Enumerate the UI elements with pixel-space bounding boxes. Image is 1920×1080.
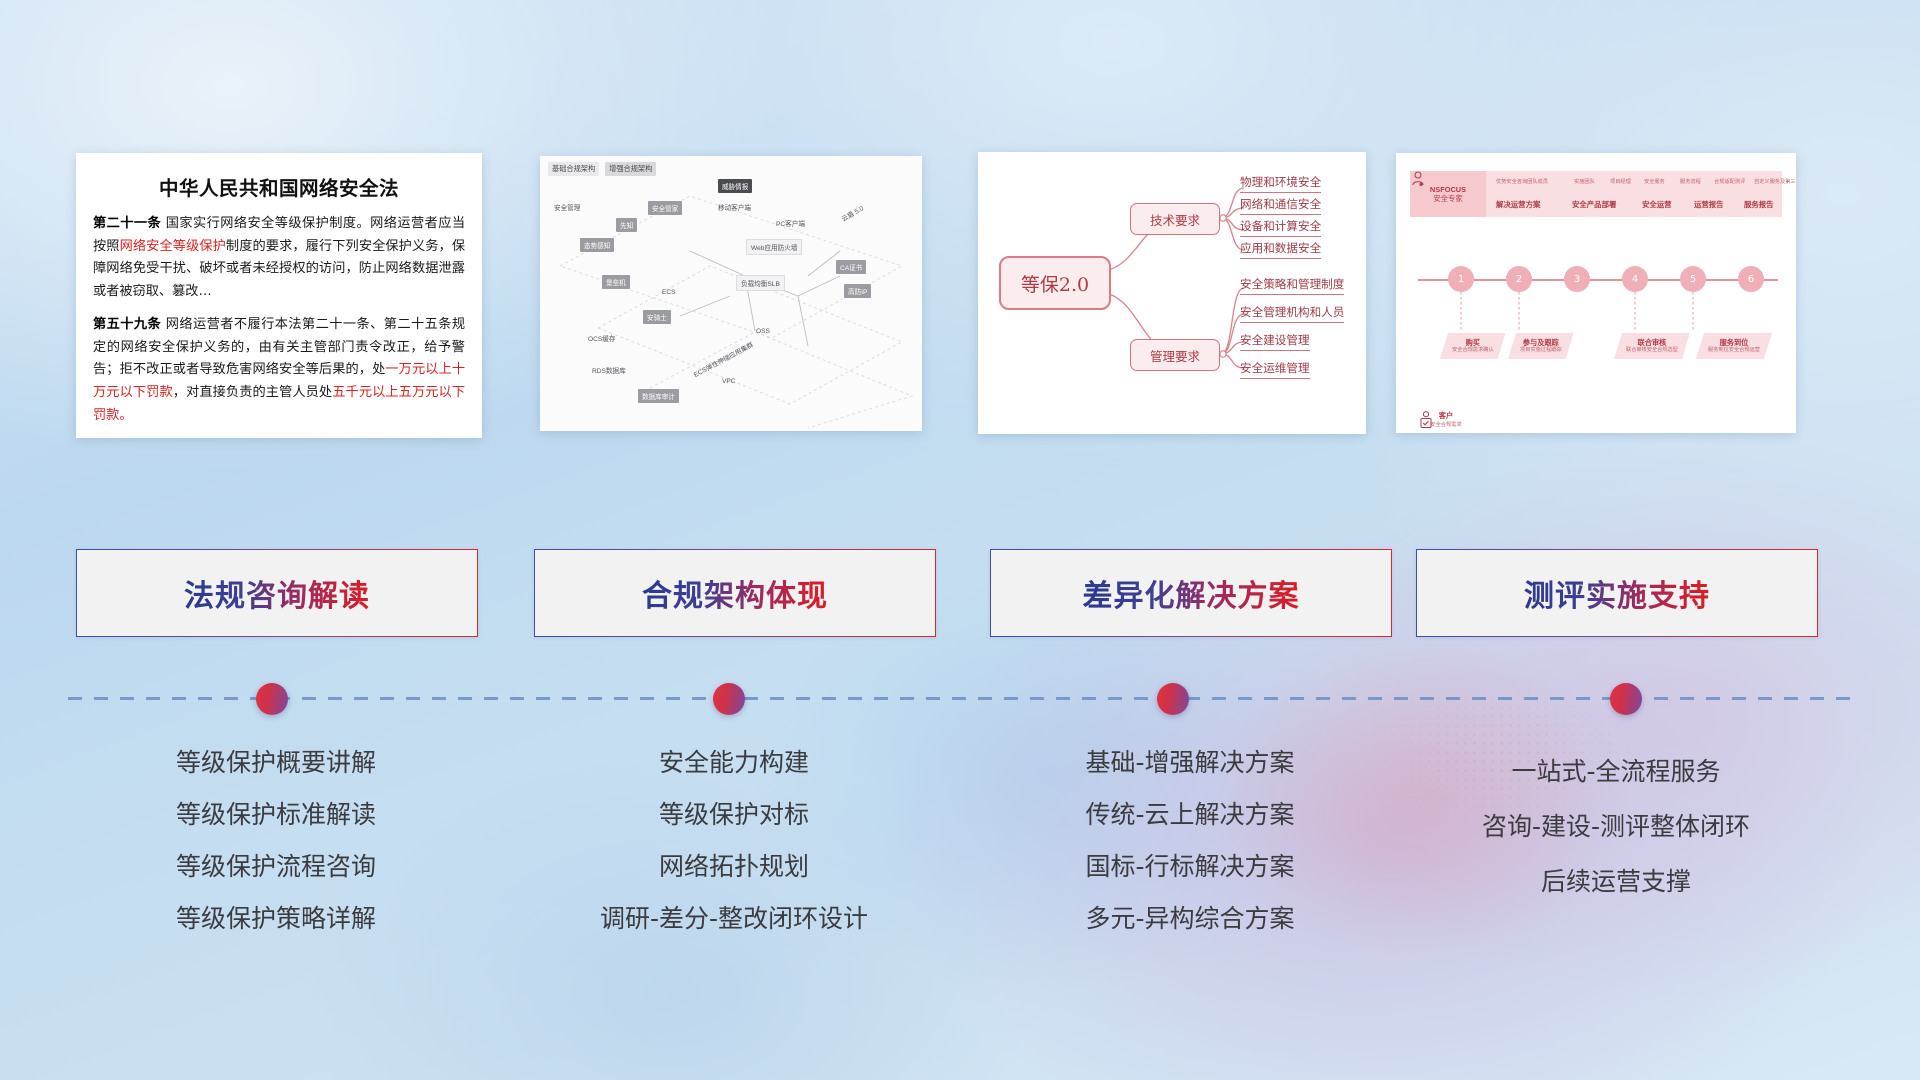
list-item: 国标-行标解决方案 — [990, 854, 1390, 879]
list-item: 后续运营支撑 — [1416, 869, 1816, 894]
roadmap-tag-2-title: 联合审核 — [1626, 338, 1678, 347]
list-item: 等级保护概要讲解 — [76, 750, 476, 775]
feature-list-solution: 基础-增强解决方案 传统-云上解决方案 国标-行标解决方案 多元-异构综合方案 — [990, 750, 1390, 958]
pill-label-0: 法规咨询解读 — [184, 571, 370, 615]
pill-label-1: 合规架构体现 — [642, 571, 828, 615]
pill-regulation-consulting[interactable]: 法规咨询解读 — [76, 549, 478, 637]
pill-differentiated-solution[interactable]: 差异化解决方案 — [990, 549, 1392, 637]
timeline-dot-4[interactable] — [1610, 683, 1642, 715]
mindmap-branch-management: 管理要求 — [1130, 339, 1220, 371]
arch-node-slb: 负载均衡SLB — [736, 275, 785, 291]
cards-row: 中华人民共和国网络安全法 第二十一条 国家实行网络安全等级保护制度。网络运营者应… — [0, 0, 1920, 430]
pill-compliance-architecture[interactable]: 合规架构体现 — [534, 549, 936, 637]
pill-evaluation-support[interactable]: 测评实施支持 — [1416, 549, 1818, 637]
law-article-59: 第五十九条 网络运营者不履行本法第二十一条、第二十五条规定的网络安全保护义务的，… — [93, 314, 465, 428]
list-item: 调研-差分-整改闭环设计 — [534, 906, 934, 931]
feature-list-architecture: 安全能力构建 等级保护对标 网络拓扑规划 调研-差分-整改闭环设计 — [534, 750, 934, 958]
arch-node-bastion-host: 堡垒机 — [602, 275, 630, 289]
arch-node-mobile-client: 移动客户端 — [718, 202, 751, 212]
arch-node-db-audit: 数据库审计 — [638, 389, 679, 403]
pill-label-2: 差异化解决方案 — [1083, 571, 1300, 615]
article-59-label: 第五十九条 — [93, 317, 161, 332]
mindmap-leaf-physical: 物理和环境安全 — [1240, 174, 1321, 193]
list-item: 传统-云上解决方案 — [990, 802, 1390, 827]
roadmap-tag-0: 购买 安全合规需求确认 — [1440, 333, 1506, 359]
card-cybersecurity-law[interactable]: 中华人民共和国网络安全法 第二十一条 国家实行网络安全等级保护制度。网络运营者应… — [76, 153, 482, 438]
roadmap-diagram: NSFOCUS 安全专家 优势安全咨询团队成员 实施团队 项目经理 安全服务 服… — [1396, 153, 1796, 433]
list-item: 一站式-全流程服务 — [1416, 759, 1816, 784]
arch-node-ocs-cache: OCS缓存 — [588, 333, 615, 343]
arch-node-situational-awareness: 态势感知 — [580, 238, 614, 252]
arch-node-ca-cert: CA证书 — [836, 260, 866, 274]
roadmap-tag-3: 服务到位 服务到位安全合规运营 — [1696, 333, 1772, 359]
roadmap-tag-2: 联合审核 联合审核安全合规选型 — [1614, 333, 1690, 359]
arch-node-waf: Web应用防火墙 — [746, 239, 802, 255]
mindmap-root: 等保2.0 — [999, 256, 1111, 310]
roadmap-tag-3-title: 服务到位 — [1708, 338, 1760, 347]
timeline-dot-2[interactable] — [713, 683, 745, 715]
law-title: 中华人民共和国网络安全法 — [93, 172, 465, 201]
law-text-body: 中华人民共和国网络安全法 第二十一条 国家实行网络安全等级保护制度。网络运营者应… — [76, 153, 482, 438]
mindmap-leaf-policy: 安全策略和管理制度 — [1240, 276, 1344, 295]
roadmap-dashed-links — [1396, 153, 1796, 433]
mindmap-leaf-device: 设备和计算安全 — [1240, 218, 1321, 237]
list-item: 等级保护标准解读 — [76, 802, 476, 827]
arch-node-ecs: ECS — [662, 289, 676, 296]
arch-node-security-mgmt: 安全管理 — [554, 202, 580, 212]
arch-node-pc-client: PC客户端 — [776, 218, 805, 228]
law-article-21: 第二十一条 国家实行网络安全等级保护制度。网络运营者应当按照网络安全等级保护制度… — [93, 213, 465, 304]
article-59-text-b: ，对直接负责的主管人员处 — [173, 385, 332, 400]
list-item: 网络拓扑规划 — [534, 854, 934, 879]
timeline-dot-3[interactable] — [1157, 683, 1189, 715]
list-item: 等级保护策略详解 — [76, 906, 476, 931]
mindmap-leaf-construction: 安全建设管理 — [1240, 332, 1310, 351]
customer-icon — [1418, 411, 1434, 429]
roadmap-customer: 客户 安全合规需求 — [1418, 411, 1474, 428]
arch-node-anqishi: 安骑士 — [643, 310, 671, 324]
arch-node-threat-intel: 威胁情报 — [718, 179, 752, 193]
list-item: 安全能力构建 — [534, 750, 934, 775]
mindmap-leaf-operation: 安全运维管理 — [1240, 360, 1310, 379]
arch-node-anti-ddos: 高防IP — [844, 284, 871, 298]
mindmap-branch-technical: 技术要求 — [1130, 203, 1220, 235]
mindmap-leaf-network: 网络和通信安全 — [1240, 196, 1321, 215]
roadmap-tag-1-sub: 项目实施过程跟踪 — [1520, 347, 1562, 354]
timeline-dashed-line — [68, 697, 1852, 700]
roadmap-tag-1-title: 参与及跟踪 — [1520, 338, 1562, 347]
card-dengbao-mindmap[interactable]: 等保2.0 技术要求 管理要求 物理和环境安全 网络和通信安全 设备和计算安全 … — [978, 152, 1366, 434]
mindmap: 等保2.0 技术要求 管理要求 物理和环境安全 网络和通信安全 设备和计算安全 … — [978, 152, 1366, 434]
list-item: 等级保护对标 — [534, 802, 934, 827]
list-item: 多元-异构综合方案 — [990, 906, 1390, 931]
roadmap-tag-3-sub: 服务到位安全合规运营 — [1708, 347, 1760, 354]
roadmap-tag-2-sub: 联合审核安全合规选型 — [1626, 347, 1678, 354]
list-item: 等级保护流程咨询 — [76, 854, 476, 879]
feature-list-regulation: 等级保护概要讲解 等级保护标准解读 等级保护流程咨询 等级保护策略详解 — [76, 750, 476, 958]
list-item: 基础-增强解决方案 — [990, 750, 1390, 775]
feature-list-evaluation: 一站式-全流程服务 咨询-建设-测评整体闭环 后续运营支撑 — [1416, 759, 1816, 924]
card-service-roadmap[interactable]: NSFOCUS 安全专家 优势安全咨询团队成员 实施团队 项目经理 安全服务 服… — [1396, 153, 1796, 433]
arch-node-security-butler: 安全管家 — [648, 201, 682, 215]
article-21-label: 第二十一条 — [93, 216, 161, 231]
roadmap-tag-0-title: 购买 — [1452, 338, 1494, 347]
card-compliance-architecture[interactable]: 基础合规架构 增强合规架构 威胁情报 安全管家 先知 态势感知 — [540, 156, 922, 431]
roadmap-tag-1: 参与及跟踪 项目实施过程跟踪 — [1508, 333, 1574, 359]
arch-node-oss: OSS — [756, 328, 770, 335]
mindmap-leaf-application: 应用和数据安全 — [1240, 240, 1321, 259]
list-item: 咨询-建设-测评整体闭环 — [1416, 814, 1816, 839]
pill-label-3: 测评实施支持 — [1524, 571, 1710, 615]
timeline-dot-1[interactable] — [256, 683, 288, 715]
architecture-diagram: 基础合规架构 增强合规架构 威胁情报 安全管家 先知 态势感知 — [540, 156, 922, 431]
arch-node-xianzhi: 先知 — [616, 218, 637, 232]
roadmap-tag-0-sub: 安全合规需求确认 — [1452, 347, 1494, 354]
arch-node-rds: RDS数据库 — [592, 365, 626, 375]
arch-node-vpc: VPC — [722, 378, 736, 385]
mindmap-leaf-org: 安全管理机构和人员 — [1240, 304, 1344, 323]
article-21-highlight: 网络安全等级保护 — [120, 239, 226, 254]
